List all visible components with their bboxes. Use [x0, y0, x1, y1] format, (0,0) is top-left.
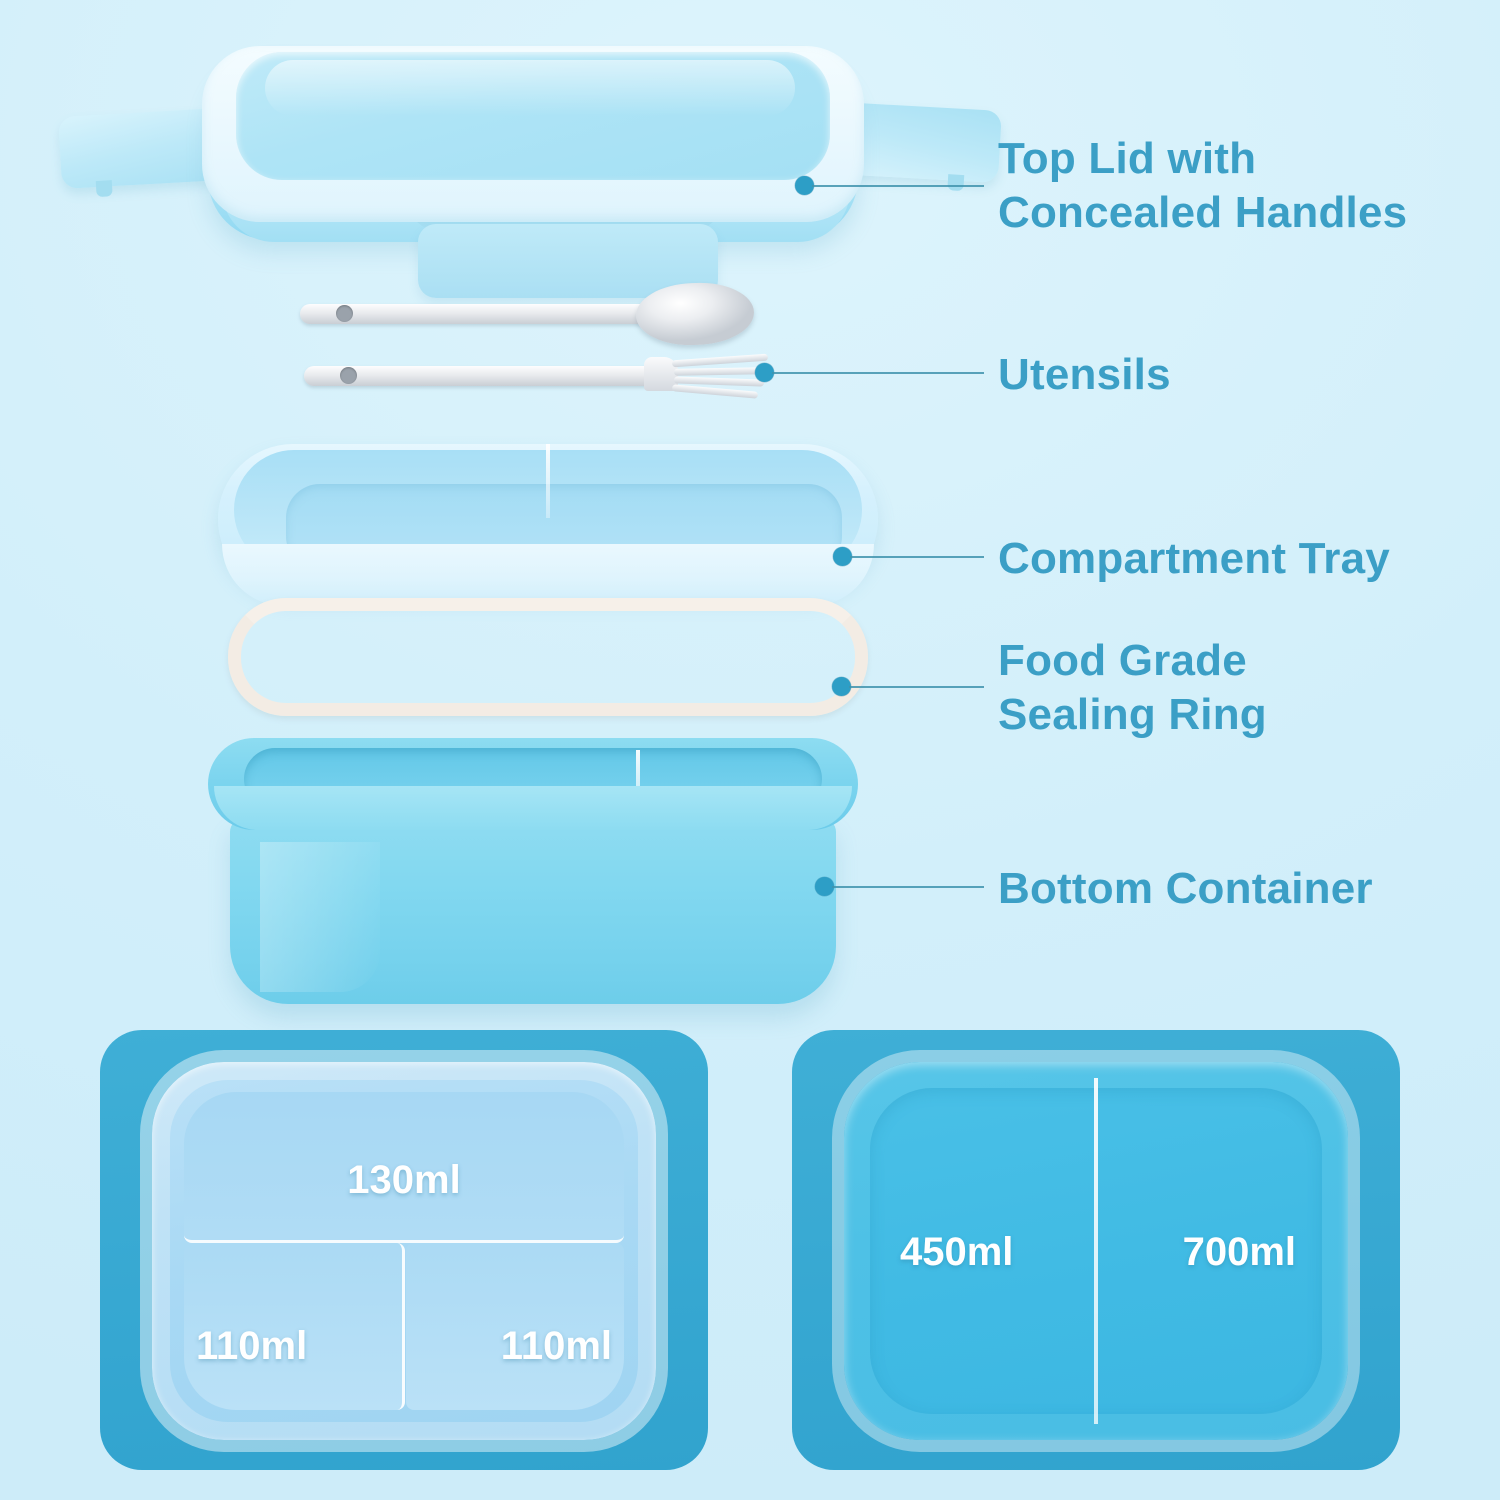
panel-container-capacity: 450ml 700ml	[792, 1030, 1400, 1470]
capacity-label-tray-bottom-right: 110ml	[501, 1324, 612, 1369]
callout-line-bottom-container	[832, 886, 984, 888]
tray-rim-band	[222, 544, 874, 606]
tray-topview: 130ml 110ml 110ml	[152, 1062, 656, 1440]
top-lid-illustration	[60, 28, 1000, 293]
callout-label-top-lid: Top Lid with Concealed Handles	[998, 132, 1407, 239]
callout-label-compartment-tray: Compartment Tray	[998, 532, 1390, 586]
infographic-canvas: Top Lid with Concealed Handles Utensils …	[0, 0, 1500, 1500]
container-rim-lip	[214, 786, 852, 830]
callout-line-sealing-ring	[849, 686, 984, 688]
flap-nub-right	[947, 174, 964, 191]
fork-tine-4	[672, 384, 758, 398]
tray-outer-shell	[218, 444, 878, 594]
callout-line-utensils	[772, 372, 984, 374]
flap-nub-left	[96, 180, 113, 197]
capacity-label-container-left: 450ml	[900, 1230, 1013, 1275]
fork-handle-hole	[340, 367, 357, 384]
panel-tray-capacity: 130ml 110ml 110ml	[100, 1030, 708, 1470]
callout-label-utensils: Utensils	[998, 348, 1171, 402]
fork-tine-2	[674, 367, 766, 376]
tray-topview-inner	[170, 1080, 638, 1422]
container-topview-divider	[1094, 1078, 1098, 1424]
spoon-handle-hole	[336, 305, 353, 322]
bottom-container-illustration	[208, 738, 858, 1006]
fork-tine-1	[672, 354, 768, 368]
compartment-tray-illustration	[218, 418, 878, 598]
spoon-handle	[300, 304, 670, 324]
fork-handle	[304, 366, 664, 386]
callout-line-top-lid	[812, 185, 984, 187]
tray-divider	[546, 444, 550, 518]
lid-gloss-highlight	[265, 60, 795, 116]
callout-label-bottom-container: Bottom Container	[998, 862, 1373, 916]
container-gloss-highlight	[260, 842, 380, 992]
capacity-label-tray-bottom-left: 110ml	[196, 1324, 307, 1369]
callout-line-tray	[850, 556, 984, 558]
container-topview: 450ml 700ml	[844, 1062, 1348, 1440]
spoon-bowl	[635, 281, 755, 347]
capacity-label-container-right: 700ml	[1183, 1230, 1296, 1275]
utensils-illustration	[300, 278, 800, 406]
sealing-ring-shape	[228, 598, 868, 716]
capacity-label-tray-top: 130ml	[152, 1158, 656, 1203]
sealing-ring-illustration	[228, 598, 868, 716]
callout-label-sealing-ring: Food Grade Sealing Ring	[998, 634, 1267, 741]
